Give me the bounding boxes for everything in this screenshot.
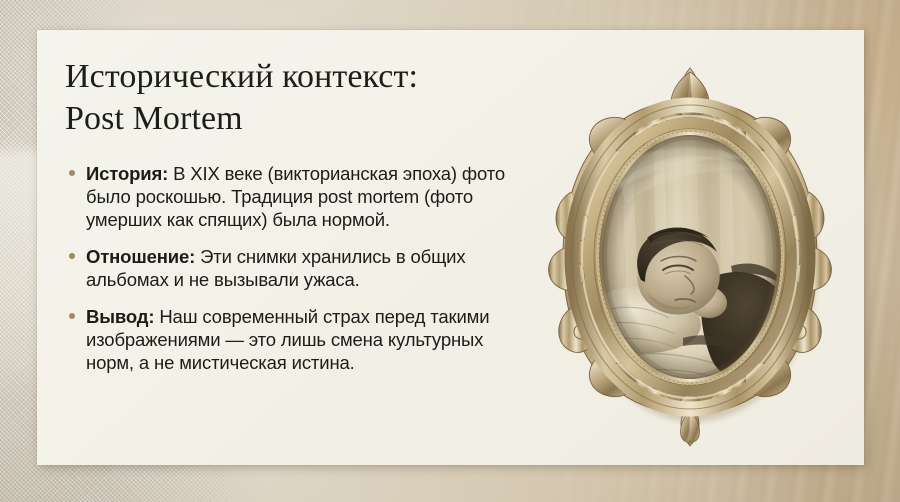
bullet-dot-icon (69, 170, 75, 176)
text-column: Исторический контекст: Post Mortem Истор… (65, 56, 535, 375)
page-title-line-1: Исторический контекст: (65, 56, 535, 98)
bullet-lead: Вывод: (86, 306, 154, 327)
bullet-list: История: В XIX веке (викторианская эпоха… (65, 162, 535, 375)
page-title: Исторический контекст: Post Mortem (65, 56, 535, 140)
ornate-frame-illustration (535, 52, 845, 452)
list-item: История: В XIX веке (викторианская эпоха… (65, 162, 535, 232)
content-card: Исторический контекст: Post Mortem Истор… (37, 30, 864, 465)
bullet-lead: Отношение: (86, 246, 195, 267)
slide-canvas: Исторический контекст: Post Mortem Истор… (0, 0, 900, 502)
list-item: Вывод: Наш современный страх перед таким… (65, 305, 535, 375)
bullet-dot-icon (69, 253, 75, 259)
bullet-lead: История: (86, 163, 168, 184)
list-item: Отношение: Эти снимки хранились в общих … (65, 245, 535, 292)
bullet-dot-icon (69, 313, 75, 319)
page-title-line-2: Post Mortem (65, 98, 535, 140)
